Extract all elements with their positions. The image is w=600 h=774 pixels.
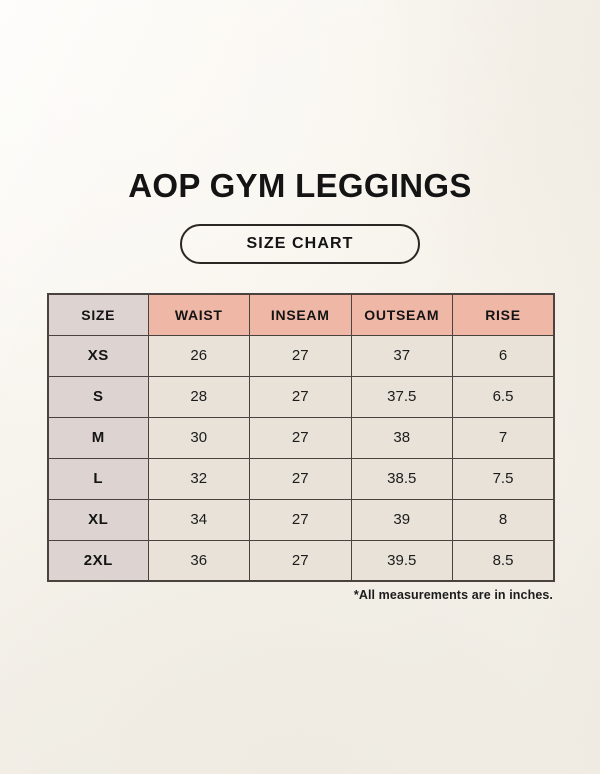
cell-outseam-2xl: 39.5 bbox=[351, 540, 453, 581]
column-header-size: SIZE bbox=[48, 294, 148, 335]
cell-waist-xl: 34 bbox=[148, 499, 250, 540]
table-row: L322738.57.5 bbox=[48, 458, 554, 499]
cell-rise-xs: 6 bbox=[453, 335, 555, 376]
page-title: AOP GYM LEGGINGS bbox=[0, 168, 600, 204]
table-row: 2XL362739.58.5 bbox=[48, 540, 554, 581]
cell-rise-l: 7.5 bbox=[453, 458, 555, 499]
table-row: S282737.56.5 bbox=[48, 376, 554, 417]
column-header-waist: WAIST bbox=[148, 294, 250, 335]
cell-rise-m: 7 bbox=[453, 417, 555, 458]
column-header-rise: RISE bbox=[453, 294, 555, 335]
cell-inseam-xl: 27 bbox=[250, 499, 352, 540]
cell-outseam-s: 37.5 bbox=[351, 376, 453, 417]
cell-rise-s: 6.5 bbox=[453, 376, 555, 417]
cell-inseam-m: 27 bbox=[250, 417, 352, 458]
cell-inseam-2xl: 27 bbox=[250, 540, 352, 581]
size-chart-table-wrapper: SIZEWAISTINSEAMOUTSEAMRISE XS2627376S282… bbox=[47, 293, 553, 582]
cell-rise-xl: 8 bbox=[453, 499, 555, 540]
measurements-footnote: *All measurements are in inches. bbox=[47, 588, 553, 602]
size-label-s: S bbox=[48, 376, 148, 417]
table-row: XS2627376 bbox=[48, 335, 554, 376]
table-header: SIZEWAISTINSEAMOUTSEAMRISE bbox=[48, 294, 554, 335]
table-header-row: SIZEWAISTINSEAMOUTSEAMRISE bbox=[48, 294, 554, 335]
size-label-l: L bbox=[48, 458, 148, 499]
cell-inseam-l: 27 bbox=[250, 458, 352, 499]
cell-outseam-m: 38 bbox=[351, 417, 453, 458]
cell-inseam-xs: 27 bbox=[250, 335, 352, 376]
cell-waist-xs: 26 bbox=[148, 335, 250, 376]
table-row: M3027387 bbox=[48, 417, 554, 458]
size-label-m: M bbox=[48, 417, 148, 458]
size-label-xl: XL bbox=[48, 499, 148, 540]
table-body: XS2627376S282737.56.5M3027387L322738.57.… bbox=[48, 335, 554, 581]
cell-waist-s: 28 bbox=[148, 376, 250, 417]
column-header-outseam: OUTSEAM bbox=[351, 294, 453, 335]
cell-waist-2xl: 36 bbox=[148, 540, 250, 581]
size-chart-badge: SIZE CHART bbox=[180, 224, 420, 264]
header-block: AOP GYM LEGGINGS SIZE CHART bbox=[0, 168, 600, 264]
size-label-xs: XS bbox=[48, 335, 148, 376]
size-chart-table: SIZEWAISTINSEAMOUTSEAMRISE XS2627376S282… bbox=[47, 293, 555, 582]
cell-waist-m: 30 bbox=[148, 417, 250, 458]
cell-outseam-xl: 39 bbox=[351, 499, 453, 540]
table-row: XL3427398 bbox=[48, 499, 554, 540]
cell-outseam-xs: 37 bbox=[351, 335, 453, 376]
cell-inseam-s: 27 bbox=[250, 376, 352, 417]
badge-row: SIZE CHART bbox=[0, 224, 600, 264]
column-header-inseam: INSEAM bbox=[250, 294, 352, 335]
cell-rise-2xl: 8.5 bbox=[453, 540, 555, 581]
size-label-2xl: 2XL bbox=[48, 540, 148, 581]
cell-outseam-l: 38.5 bbox=[351, 458, 453, 499]
cell-waist-l: 32 bbox=[148, 458, 250, 499]
